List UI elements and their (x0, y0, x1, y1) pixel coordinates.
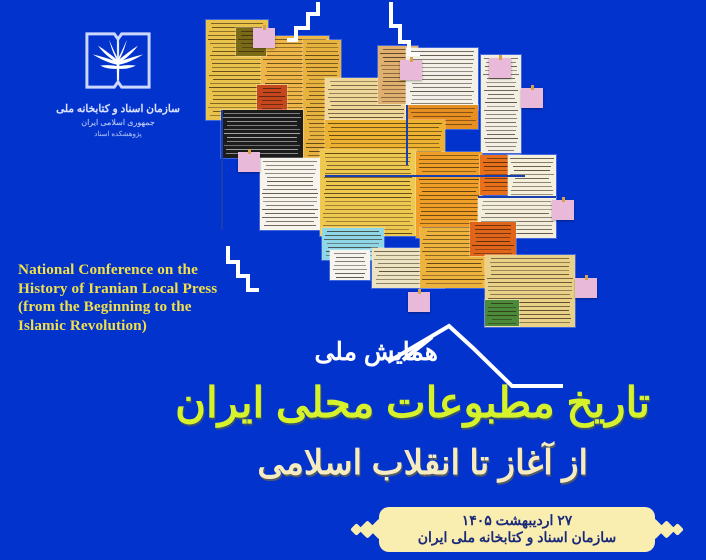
newspaper-clipping (470, 222, 516, 256)
banner-plate: ۲۷ اردیبهشت ۱۴۰۵ سازمان اسناد و کتابخانه… (379, 507, 655, 552)
sticky-note (238, 152, 260, 172)
collage-rule (406, 105, 408, 165)
english-title-line-2: History of Iranian Local Press (18, 280, 283, 299)
newspaper-clipping (221, 110, 303, 158)
sticky-note (400, 60, 422, 80)
newspaper-clipping (260, 158, 320, 230)
date-and-organizer-banner: ۲۷ اردیبهشت ۱۴۰۵ سازمان اسناد و کتابخانه… (352, 503, 682, 555)
conference-poster: سازمان اسناد و کتابخانه ملی جمهوری اسلام… (0, 0, 706, 560)
newspaper-clipping (322, 228, 384, 260)
persian-title-line-1: تاریخ مطبوعات محلی ایران (175, 378, 650, 427)
newspaper-clipping (485, 300, 519, 326)
newspaper-clipping (325, 120, 445, 162)
newspaper-clipping (330, 250, 370, 280)
sticky-note (575, 278, 597, 298)
newspaper-clipping (508, 155, 556, 197)
logo-text-line-2: جمهوری اسلامی ایران (54, 118, 182, 127)
national-library-logo: سازمان اسناد و کتابخانه ملی جمهوری اسلام… (54, 22, 182, 138)
english-title-line-1: National Conference on the (18, 261, 283, 280)
sticky-note (552, 200, 574, 220)
diamond-ornament-right-outer (671, 523, 684, 536)
collage-rule (325, 175, 525, 177)
english-title-line-4: Islamic Revolution) (18, 317, 283, 336)
newspaper-clipping (261, 36, 329, 126)
persian-title-line-2: از آغاز تا انقلاب اسلامی (257, 443, 588, 483)
newspaper-clipping (236, 28, 266, 56)
logo-text-line-3: پژوهشکده اسناد (54, 130, 182, 138)
newspaper-clipping (478, 198, 556, 238)
newspaper-clipping (485, 255, 575, 327)
newspaper-clipping (320, 150, 416, 236)
newspaper-clipping (325, 78, 407, 124)
newspaper-clipping (257, 85, 287, 111)
open-book-with-palm-tree-logo-icon (81, 22, 155, 96)
persian-kicker: همایش ملی (314, 337, 438, 367)
bracket-top-right (391, 2, 420, 54)
banner-date: ۲۷ اردیبهشت ۱۴۰۵ (389, 512, 645, 529)
newspaper-clipping (406, 48, 478, 110)
bracket-top-left (287, 2, 318, 40)
newspaper-clipping (303, 40, 341, 158)
newspaper-clipping (420, 228, 488, 288)
sticky-note (253, 28, 275, 48)
banner-organizer: سازمان اسناد و کتابخانه ملی ایران (389, 529, 645, 546)
sticky-note (521, 88, 543, 108)
english-title-line-3: (from the Beginning to the (18, 298, 283, 317)
collage-rule (478, 196, 556, 198)
newspaper-clipping (416, 152, 482, 238)
newspaper-clipping (378, 46, 418, 104)
newspaper-clipping (406, 105, 478, 129)
sticky-note (408, 292, 430, 312)
newspaper-clipping (480, 155, 520, 195)
newspaper-clipping (206, 20, 268, 120)
english-conference-title: National Conference on the History of Ir… (18, 261, 283, 335)
newspaper-clipping (481, 55, 521, 153)
logo-text-line-1: سازمان اسناد و کتابخانه ملی (54, 103, 182, 115)
collage-rule (221, 110, 223, 230)
sticky-note (489, 58, 511, 78)
newspaper-clipping (372, 248, 444, 288)
